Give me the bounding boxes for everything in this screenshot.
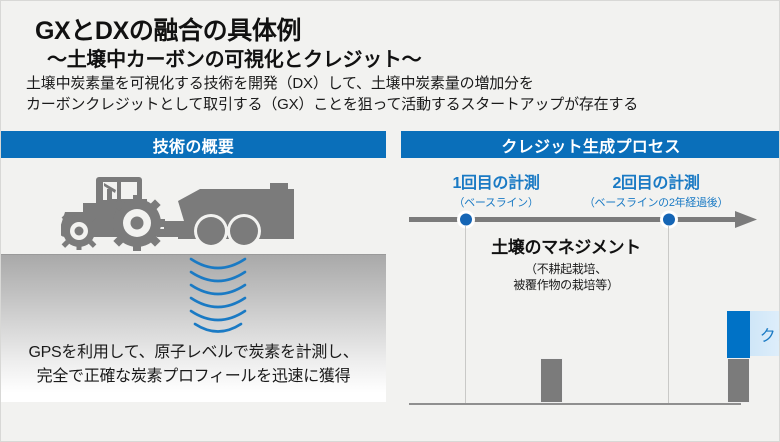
page-subtitle: 〜土壌中カーボンの可視化とクレジット〜	[47, 43, 421, 72]
section-header-technology-overview: 技術の概要	[1, 131, 386, 158]
gps-caption: GPSを利用して、原子レベルで炭素を計測し、 完全で正確な炭素プロフィールを迅速…	[1, 341, 386, 389]
trailer-wheel-1	[197, 217, 225, 245]
lead-line-1: 土壌中炭素量を可視化する技術を開発（DX）して、土壌中炭素量の増加分を	[26, 73, 638, 94]
timeline-marker-1	[460, 214, 472, 226]
gps-caption-line-2: 完全で正確な炭素プロフィールを迅速に獲得	[1, 365, 386, 389]
timeline-axis	[409, 209, 759, 231]
soil-management-subtitle: （不耕起栽培、 被覆作物の栽培等）	[436, 261, 696, 293]
credit-label: クレジット	[760, 322, 780, 346]
soil-management-block: 土壌のマネジメント （不耕起栽培、 被覆作物の栽培等）	[436, 233, 696, 293]
tractor-icon	[61, 169, 311, 259]
lead-line-2: カーボンクレジットとして取引する（GX）ことを狙って活動するスタートアップが存在…	[26, 94, 638, 115]
carbon-bar-measurement-2	[727, 358, 750, 403]
gps-caption-line-1: GPSを利用して、原子レベルで炭素を計測し、	[1, 341, 386, 365]
trailer-wheel-2	[230, 217, 258, 245]
credit-callout: クレジット	[750, 311, 780, 356]
soil-management-title: 土壌のマネジメント	[436, 233, 696, 258]
measurement-2-subtitle: （ベースラインの2年経過後）	[546, 194, 766, 210]
credit-bar-segment	[727, 311, 750, 358]
measurement-2-title: 2回目の計測	[546, 169, 766, 193]
carbon-bar-measurement-1	[540, 358, 563, 403]
section-header-credit-process: クレジット生成プロセス	[401, 131, 780, 158]
slide-root: GXとDXの融合の具体例 〜土壌中カーボンの可視化とクレジット〜 土壌中炭素量を…	[0, 0, 780, 442]
soil-management-sub-line-1: （不耕起栽培、	[436, 261, 696, 277]
timeline-arrow-head	[735, 211, 757, 228]
soil-management-sub-line-2: 被覆作物の栽培等）	[436, 277, 696, 293]
technology-overview-panel: GPSを利用して、原子レベルで炭素を計測し、 完全で正確な炭素プロフィールを迅速…	[1, 161, 386, 436]
credit-process-panel: 1回目の計測 （ベースライン） 2回目の計測 （ベースラインの2年経過後） 土壌…	[401, 161, 780, 436]
soil-sensor-wave-icon	[187, 257, 249, 339]
page-title: GXとDXの融合の具体例	[35, 11, 301, 47]
timeline-marker-2	[663, 214, 675, 226]
tractor-front-wheel	[61, 212, 98, 250]
chart-baseline-axis	[409, 403, 741, 405]
lead-paragraph: 土壌中炭素量を可視化する技術を開発（DX）して、土壌中炭素量の増加分を カーボン…	[26, 73, 638, 115]
tractor-rear-wheel	[109, 195, 165, 251]
measurement-2-label: 2回目の計測 （ベースラインの2年経過後）	[546, 169, 766, 210]
